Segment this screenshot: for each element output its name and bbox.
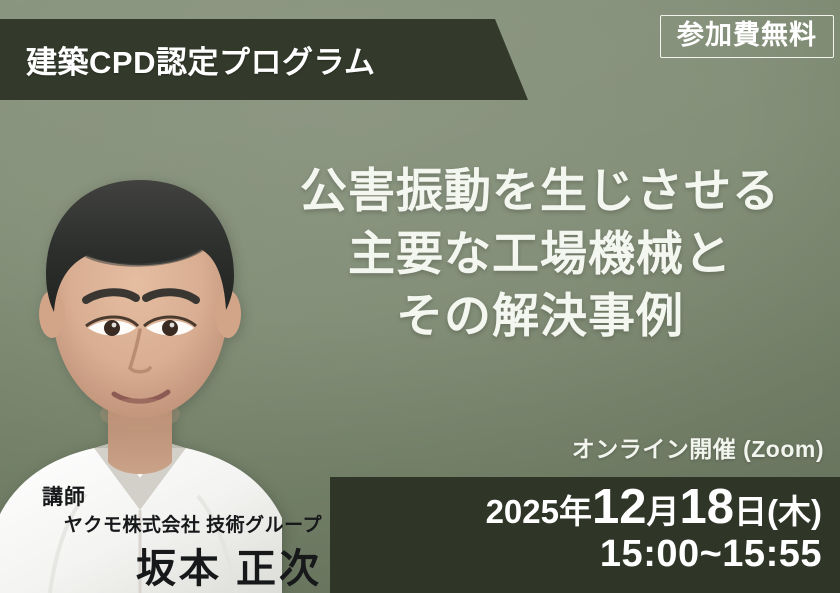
event-time: 15:00~15:55 — [330, 535, 822, 573]
seminar-title-line-2: 主要な工場機械と — [245, 223, 835, 286]
free-admission-label: 参加費無料 — [677, 20, 817, 50]
program-ribbon: 建築CPD認定プログラム — [0, 19, 528, 100]
free-admission-badge: 参加費無料 — [660, 15, 834, 58]
seminar-banner-poster: 建築CPD認定プログラム 参加費無料 公害振動を生じさせる 主要な工場機械と そ… — [0, 0, 840, 593]
speaker-organization: ヤクモ株式会社 技術グループ — [0, 510, 322, 537]
seminar-title-line-3: その解決事例 — [245, 285, 835, 348]
event-date-month: 12 — [592, 480, 647, 534]
event-date-day: 18 — [680, 480, 735, 534]
event-date-day-unit: 日(木) — [734, 493, 822, 530]
seminar-title: 公害振動を生じさせる 主要な工場機械と その解決事例 — [245, 160, 835, 348]
event-datetime-panel: 2025年12月18日(木) 15:00~15:55 — [330, 477, 840, 593]
speaker-credit-block: 講師 ヤクモ株式会社 技術グループ 坂本 正次 — [0, 478, 330, 593]
event-date-year: 2025年 — [486, 493, 592, 530]
seminar-title-line-1: 公害振動を生じさせる — [245, 160, 835, 223]
event-format-label: オンライン開催 (Zoom) — [572, 430, 824, 464]
speaker-name: 坂本 正次 — [0, 536, 322, 593]
event-date-month-unit: 月 — [647, 493, 680, 530]
event-date: 2025年12月18日(木) — [330, 483, 822, 532]
program-ribbon-label: 建築CPD認定プログラム — [0, 37, 376, 82]
speaker-role-label: 講師 — [42, 481, 86, 511]
